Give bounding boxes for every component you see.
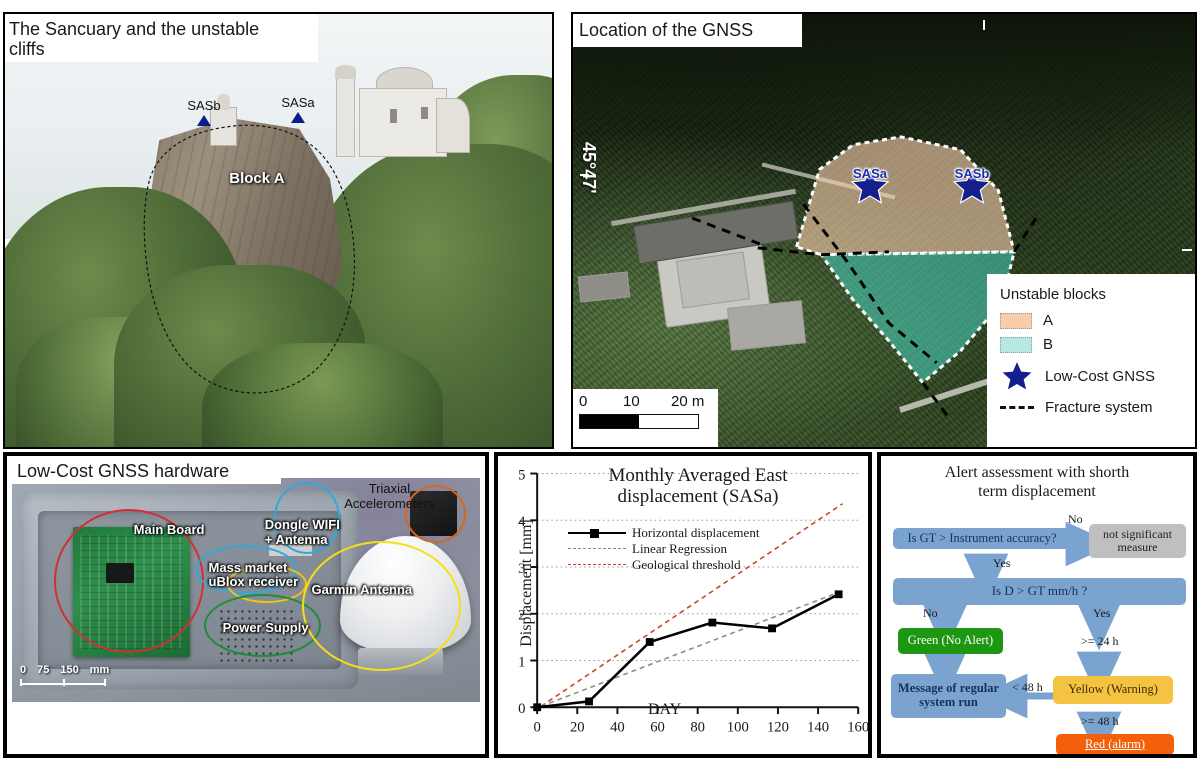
label-dongle-wifi: Dongle WIFI + Antenna [265,518,340,547]
node-q-d-gt[interactable]: Is D > GT mm/h ? [893,578,1186,605]
legend-entry-geological-threshold: Geological threshold [568,557,759,573]
svg-text:80: 80 [690,720,705,736]
label-triaxial-accelerometers: Triaxial Accelerometers [344,482,434,511]
legend-label-gnss: Low-Cost GNSS [1045,368,1155,385]
legend-label-horizontal-displacement: Horizontal displacement [632,525,759,541]
star-icon [1000,360,1034,392]
svg-text:5: 5 [518,467,525,483]
sanctuary-panel-title: The Sancuary and the unstable cliffs [4,13,318,62]
marker-sasb-label: SASb [187,98,220,113]
legend-key-red-dashed [568,560,626,570]
dashed-line-icon [1000,406,1034,409]
svg-text:120: 120 [767,720,789,736]
legend-label-linear-regression: Linear Regression [632,541,727,557]
x-ticks [537,707,858,714]
lat-tick [580,174,589,176]
label-main-board: Main Board [134,523,205,538]
series-linear-regression [541,592,839,706]
map-legend-title: Unstable blocks [1000,286,1185,303]
edge-label-no-1: No [1068,512,1083,527]
legend-key-solid-marker [568,528,626,538]
hw-scale-0: 0 [20,664,26,676]
label-power-supply: Power Supply [223,621,309,636]
node-green-no-alert[interactable]: Green (No Alert) [898,628,1003,654]
triangle-icon [291,112,305,123]
bell-tower-roof [335,65,356,78]
marker-sasa: SASa [291,112,305,123]
church-window [421,107,428,118]
scalebar-segment-filled [580,415,639,428]
hw-scale-75: 75 [37,664,49,676]
displacement-chart-panel: 5 4 3 2 1 0 0 20 40 60 80 100 120 140 [494,452,872,758]
node-message-regular-run-label: Message of regular system run [898,682,999,710]
label-garmin-antenna: Garmin Antenna [312,583,413,598]
marker-sasb: SASb [197,115,211,126]
svg-text:60: 60 [650,720,665,736]
node-q-gt-accuracy[interactable]: Is GT > Instrument accuracy? [893,528,1071,549]
aerial-map: SASa SASb 45°47' 8°23' Unstable blocks [573,14,1195,447]
edge-label-yes-2: Yes [1093,606,1110,621]
node-q-gt-accuracy-label: Is GT > Instrument accuracy? [907,532,1056,546]
chart-x-axis-label: DAY [648,701,681,719]
node-message-regular-run[interactable]: Message of regular system run [891,674,1006,718]
node-not-significant-label: not significant measure [1103,528,1172,554]
node-red-alarm[interactable]: Red (alarm) [1056,734,1174,755]
alert-assessment-panel: Alert assessment with shorth term displa… [877,452,1197,758]
map-marker-sasb-label: SASb [955,166,990,181]
node-not-significant[interactable]: not significant measure [1089,524,1186,558]
hardware-scalebar: 0 75 150 mm [20,664,109,686]
svg-text:100: 100 [727,720,749,736]
church-apse [436,98,470,153]
map-legend: Unstable blocks A B Low-Cost GNSS [987,274,1195,447]
map-scalebar-numbers: 0 10 20 m [579,393,712,410]
map-marker-sasa: SASa [849,166,891,211]
legend-item-gnss: Low-Cost GNSS [1000,360,1185,392]
svg-text:160: 160 [847,720,868,736]
svg-text:40: 40 [610,720,625,736]
x-tick-labels: 0 20 40 60 80 100 120 140 160 [533,720,868,736]
edge-label-no-2: No [923,606,938,621]
map-scalebar: 0 10 20 m [573,389,718,447]
block-a-label: Block A [229,170,284,187]
church-body [359,88,447,157]
svg-text:0: 0 [533,720,540,736]
legend-entry-horizontal-displacement: Horizontal displacement [568,525,759,541]
scale-tick-0: 0 [579,393,623,410]
legend-entry-linear-regression: Linear Regression [568,541,759,557]
node-q-d-gt-label: Is D > GT mm/h ? [992,584,1088,598]
node-yellow-warning[interactable]: Yellow (Warning) [1053,676,1173,704]
legend-label-block-b: B [1043,336,1053,353]
chart-plot: 5 4 3 2 1 0 0 20 40 60 80 100 120 140 [498,456,868,754]
hardware-photo: Main Board Mass market uBlox receiver Po… [12,478,480,702]
figure-root: Block A SASb SASa The Sancuary and the u… [0,0,1200,761]
hw-scale-150: 150 [60,664,78,676]
edge-label-ge-48h: >= 48 h [1081,714,1119,729]
label-mass-market-ublox: Mass market uBlox receiver [209,561,299,590]
sanctuary-photo-panel: Block A SASb SASa The Sancuary and the u… [3,12,554,449]
legend-item-block-a: A [1000,312,1185,329]
hardware-panel-title: Low-Cost GNSS hardware [10,458,281,484]
svg-text:0: 0 [518,701,525,717]
hardware-scalebar-line [20,679,106,686]
legend-item-block-b: B [1000,336,1185,353]
swatch-block-b [1000,337,1032,353]
marker-sasa-label: SASa [281,95,314,110]
legend-label-fracture: Fracture system [1045,399,1153,416]
scalebar-segment-empty [639,415,698,428]
church-window [390,109,397,122]
node-red-alarm-label: Red (alarm) [1085,738,1145,752]
chart-title: Monthly Averaged East displacement (SASa… [538,465,858,508]
triangle-icon [197,115,211,126]
legend-label-block-a: A [1043,312,1053,329]
node-yellow-warning-label: Yellow (Warning) [1068,683,1158,697]
gnss-panel-title: Location of the GNSS [572,13,802,47]
graticule-tick-top [983,20,985,30]
ring-garmin-antenna [302,541,461,671]
map-marker-sasa-label: SASa [853,166,887,181]
block-b-polygon [821,252,1014,383]
node-green-no-alert-label: Green (No Alert) [908,634,993,648]
latitude-label: 45°47' [578,142,599,194]
svg-text:20: 20 [570,720,585,736]
sanctuary-photo: Block A SASb SASa [5,14,552,447]
edge-label-ge-24h: >= 24 h [1081,634,1119,649]
edge-label-lt-48h: < 48 h [1012,680,1043,695]
hw-scale-unit: mm [90,664,110,676]
hardware-scalebar-numbers: 0 75 150 mm [20,664,109,676]
svg-text:140: 140 [807,720,829,736]
scale-tick-10: 10 [623,393,671,410]
chart-legend: Horizontal displacement Linear Regressio… [568,525,759,573]
chart-y-axis-label: Displacement [mm] [518,508,536,658]
swatch-block-a [1000,313,1032,329]
scale-tick-20: 20 m [671,393,704,410]
hardware-panel: Main Board Mass market uBlox receiver Po… [3,452,489,758]
legend-key-gray-dashed [568,544,626,554]
edge-label-yes-1: Yes [993,556,1010,571]
gnss-location-panel: SASa SASb 45°47' 8°23' Unstable blocks [571,12,1197,449]
flowchart: Alert assessment with shorth term displa… [881,456,1193,754]
legend-label-geological-threshold: Geological threshold [632,557,741,573]
block-a-outline [136,116,366,402]
map-marker-sasb: SASb [951,166,993,211]
legend-item-fracture: Fracture system [1000,399,1185,416]
map-scalebar-bar [579,414,699,429]
graticule-tick-right [1182,249,1192,251]
